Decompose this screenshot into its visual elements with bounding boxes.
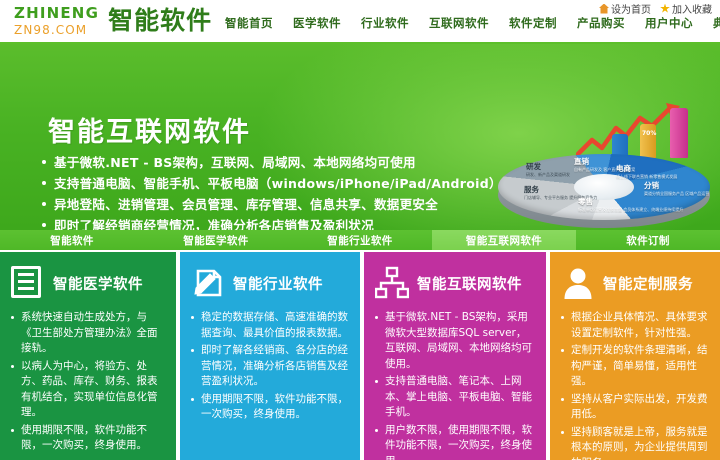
- card-bullet-list: 基于微软.NET - BS架构，采用微软大型数据库SQL server，互联网、…: [375, 310, 535, 460]
- pie-label-rd: 研发 研发、新产品及渠道研发: [526, 161, 570, 177]
- pie-label-retail: 零售 标准单店运营及连锁加盟 会员体系建立、终端业绩持续提升: [578, 196, 683, 212]
- card-bullet: 坚持顾客就是上帝，服务就是根本的原则，为企业提供周到的服务。: [561, 425, 709, 460]
- pie-chart-3d: 研发 研发、新产品及渠道研发 服务 门店辅导、专业平台服务 提升服务竞争力 直销…: [498, 154, 710, 228]
- card-bullet-list: 系统快速自动生成处方，与《卫生部处方管理办法》全面接轨。 以病人为中心，将验方、…: [11, 310, 165, 454]
- card-bullet: 即时了解各经销商、各分店的经营情况，准确分析各店销售及经营盈利状况。: [191, 343, 349, 390]
- feature-cards: 智能医学软件 系统快速自动生成处方，与《卫生部处方管理办法》全面接轨。 以病人为…: [0, 252, 720, 460]
- pie-label-direct-name: 直销: [574, 157, 589, 166]
- home-icon: [599, 4, 609, 14]
- pie-label-ecommerce-sub: 线上线下联合营销 新零售模式发展: [616, 174, 677, 179]
- logo-domain: ZN98.COM: [14, 24, 99, 36]
- card-bullet: 支持普通电脑、笔记本、上网本、掌上电脑、平板电脑、智能手机。: [375, 374, 535, 421]
- set-homepage-link[interactable]: 设为首页: [599, 1, 651, 16]
- pie-label-distribution-name: 分销: [644, 181, 659, 190]
- nav-item-clients[interactable]: 典型客户: [703, 15, 720, 31]
- pie-label-distribution: 分销 渠道分销全国服务产品 区域产品运营: [644, 180, 709, 196]
- pie-label-ecommerce: 电商 线上线下联合营销 新零售模式发展: [616, 163, 677, 179]
- set-homepage-label: 设为首页: [611, 1, 651, 16]
- card-bullet-list: 根据企业具体情况、具体要求设置定制软件，针对性强。 定制开发的软件条理清晰，结构…: [561, 310, 709, 460]
- banner-bullet: 即时了解经销商经营情况，准确分析各店销售及盈利状况: [40, 215, 502, 230]
- card-bullet: 使用期限不限，软件功能不限，一次购买，终身使用。: [191, 392, 349, 423]
- card-bullet: 基于微软.NET - BS架构，采用微软大型数据库SQL server，互联网、…: [375, 310, 535, 372]
- card-bullet: 以病人为中心，将验方、处方、药品、库存、财务、报表有机结合，实现单位信息化管理。: [11, 359, 165, 421]
- banner-feature-list: 基于微软.NET - BS架构，互联网、局域网、本地网络均可使用 支持普通电脑、…: [40, 152, 502, 230]
- card-bullet: 系统快速自动生成处方，与《卫生部处方管理办法》全面接轨。: [11, 310, 165, 357]
- card-bullet: 使用期限不限，软件功能不限，一次购买，终身使用。: [11, 423, 165, 454]
- card-custom-service[interactable]: 智能定制服务 根据企业具体情况、具体要求设置定制软件，针对性强。 定制开发的软件…: [550, 252, 720, 460]
- add-favorite-link[interactable]: 加入收藏: [660, 1, 712, 16]
- card-bullet: 定制开发的软件条理清晰，结构严谨，简单易懂，适用性强。: [561, 343, 709, 390]
- card-header: 智能互联网软件: [375, 266, 535, 300]
- banner-bullet: 基于微软.NET - BS架构，互联网、局域网、本地网络均可使用: [40, 152, 502, 173]
- main-navigation: 智能首页 医学软件 行业软件 互联网软件 软件定制 产品购买 用户中心 典型客户: [215, 15, 720, 31]
- top-utility-links: 设为首页 加入收藏: [599, 1, 712, 16]
- pen-edit-icon: [191, 266, 225, 300]
- pie-label-ecommerce-name: 电商: [616, 164, 631, 173]
- card-bullet: 稳定的数据存储、高速准确的数据查询、最具价值的报表数据。: [191, 310, 349, 341]
- card-title: 智能互联网软件: [417, 273, 522, 294]
- add-favorite-label: 加入收藏: [672, 1, 712, 16]
- pie-label-service-name: 服务: [524, 185, 539, 194]
- tab-medical-software[interactable]: 智能医学软件: [144, 230, 288, 250]
- page-root: ZHINENG ZN98.COM 智能软件 设为首页 加入收藏 智能首页 医学软…: [0, 0, 720, 460]
- nav-item-medical[interactable]: 医学软件: [283, 15, 351, 31]
- nav-item-user-center[interactable]: 用户中心: [635, 15, 703, 31]
- pie-label-rd-sub: 研发、新产品及渠道研发: [526, 172, 570, 177]
- card-title: 智能定制服务: [603, 273, 693, 294]
- card-medical-software[interactable]: 智能医学软件 系统快速自动生成处方，与《卫生部处方管理办法》全面接轨。 以病人为…: [0, 252, 176, 460]
- tab-software-custom[interactable]: 软件订制: [576, 230, 720, 250]
- logo-chinese: 智能软件: [108, 4, 212, 38]
- tab-industry-software[interactable]: 智能行业软件: [288, 230, 432, 250]
- pie-label-retail-name: 零售: [578, 197, 593, 206]
- chart-bar-pink: [670, 108, 688, 158]
- pie-label-retail-sub: 标准单店运营及连锁加盟 会员体系建立、终端业绩持续提升: [578, 207, 683, 212]
- nav-item-industry[interactable]: 行业软件: [351, 15, 419, 31]
- card-bullet-list: 稳定的数据存储、高速准确的数据查询、最具价值的报表数据。 即时了解各经销商、各分…: [191, 310, 349, 423]
- tab-internet-software[interactable]: 智能互联网软件: [432, 230, 576, 250]
- user-person-icon: [561, 266, 595, 300]
- site-logo[interactable]: ZHINENG ZN98.COM 智能软件: [14, 4, 212, 38]
- card-industry-software[interactable]: 智能行业软件 稳定的数据存储、高速准确的数据查询、最具价值的报表数据。 即时了解…: [180, 252, 360, 460]
- hero-banner: 智能互联网软件 基于微软.NET - BS架构，互联网、局域网、本地网络均可使用…: [0, 44, 720, 230]
- pie-label-rd-name: 研发: [526, 162, 541, 171]
- banner-title: 智能互联网软件: [48, 110, 251, 149]
- nav-item-home[interactable]: 智能首页: [215, 15, 283, 31]
- card-header: 智能医学软件: [11, 266, 165, 300]
- nav-item-purchase[interactable]: 产品购买: [567, 15, 635, 31]
- document-lines-icon: [11, 266, 45, 300]
- card-title: 智能医学软件: [53, 273, 143, 294]
- card-bullet: 用户数不限，使用期限不限，软件功能不限，一次购买，终身使用。: [375, 423, 535, 460]
- chart-bar-percent: 70%: [642, 130, 656, 137]
- card-header: 智能定制服务: [561, 266, 709, 300]
- banner-bullet: 支持普通电脑、智能手机、平板电脑（windows/iPhone/iPad/And…: [40, 173, 502, 194]
- nav-item-internet[interactable]: 互联网软件: [419, 15, 499, 31]
- site-header: ZHINENG ZN98.COM 智能软件 设为首页 加入收藏 智能首页 医学软…: [0, 0, 720, 44]
- card-bullet: 根据企业具体情况、具体要求设置定制软件，针对性强。: [561, 310, 709, 341]
- business-chart-illustration: 70% 研发 研发、新产品及渠道研发 服务 门店辅导、专业平台服务 提升服务竞争…: [492, 102, 716, 230]
- tab-zhineng-software[interactable]: 智能软件: [0, 230, 144, 250]
- logo-english: ZHINENG: [14, 6, 99, 21]
- card-internet-software[interactable]: 智能互联网软件 基于微软.NET - BS架构，采用微软大型数据库SQL ser…: [364, 252, 546, 460]
- nav-item-custom[interactable]: 软件定制: [499, 15, 567, 31]
- logo-text-block: ZHINENG ZN98.COM: [14, 4, 99, 36]
- network-tree-icon: [375, 266, 409, 300]
- star-icon: [660, 4, 670, 14]
- card-header: 智能行业软件: [191, 266, 349, 300]
- card-bullet: 坚持从客户实际出发，开发费用低。: [561, 392, 709, 423]
- card-title: 智能行业软件: [233, 273, 323, 294]
- product-tabbar: 智能软件 智能医学软件 智能行业软件 智能互联网软件 软件订制: [0, 230, 720, 252]
- banner-bullet: 异地登陆、进销管理、会员管理、库存管理、信息共享、数据更安全: [40, 194, 502, 215]
